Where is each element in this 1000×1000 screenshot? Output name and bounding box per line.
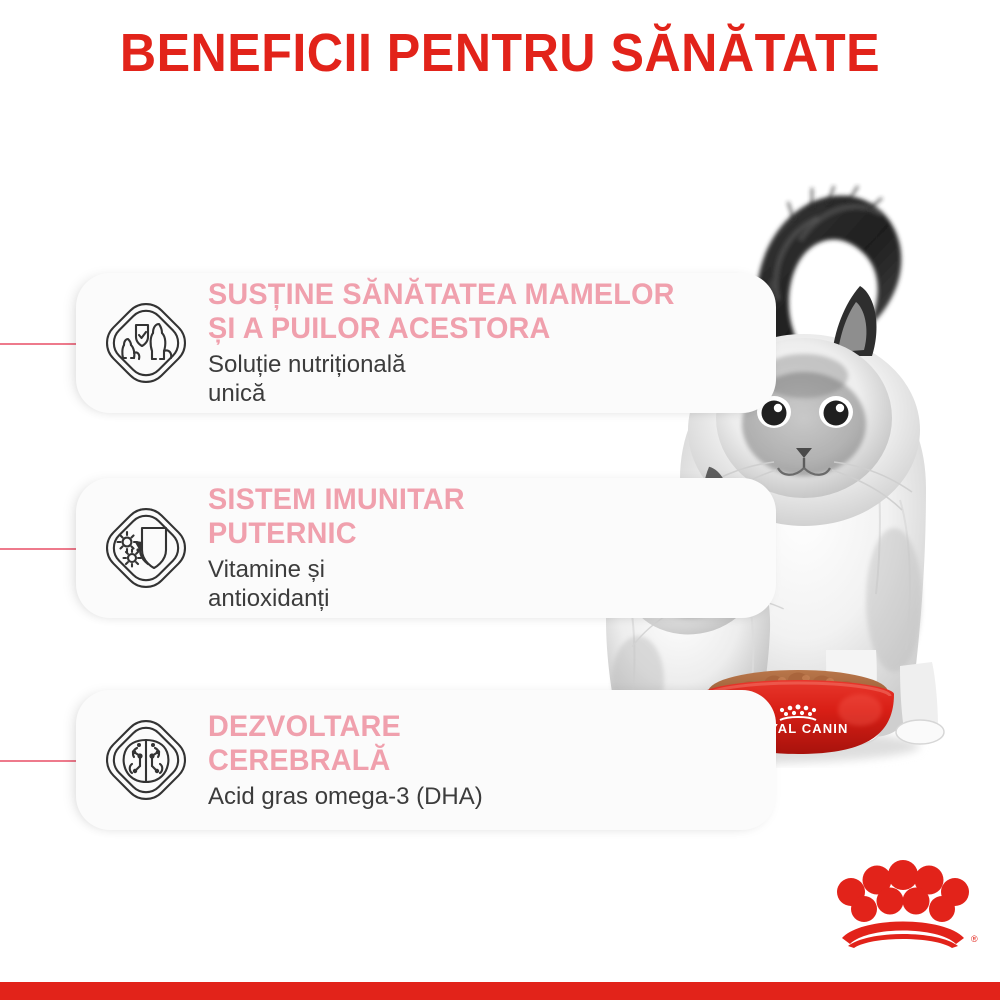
royal-canin-crown-logo: ®: [828, 856, 978, 948]
connector-line-3: [0, 760, 78, 762]
benefit-subtitle-3: Acid gras omega-3 (DHA): [208, 782, 483, 811]
benefit-text-3: DEZVOLTARE CEREBRALĂ Acid gras omega-3 (…: [208, 710, 497, 811]
benefit-card-1[interactable]: SUSȚINE SĂNĂTATEA MAMELOR ȘI A PUILOR AC…: [76, 273, 776, 413]
poster-root: BENEFICII PENTRU SĂNĂTATE: [0, 0, 1000, 1000]
benefit-subtitle-1: Soluție nutrițională unică: [208, 350, 694, 408]
shield-germ-defense-icon: [90, 492, 202, 604]
brain-neurons-icon: [90, 704, 202, 816]
connector-line-1: [0, 343, 78, 345]
benefit-subtitle-2: Vitamine și antioxidanți: [208, 555, 475, 613]
shield-check-cat-kitten-icon: [90, 287, 202, 399]
benefit-title-2: SISTEM IMUNITAR PUTERNIC: [208, 483, 465, 551]
benefit-title-3: DEZVOLTARE CEREBRALĂ: [208, 710, 472, 778]
benefit-text-1: SUSȚINE SĂNĂTATEA MAMELOR ȘI A PUILOR AC…: [208, 278, 708, 408]
benefit-card-3[interactable]: DEZVOLTARE CEREBRALĂ Acid gras omega-3 (…: [76, 690, 776, 830]
bottom-red-bar: [0, 982, 1000, 1000]
page-title: BENEFICII PENTRU SĂNĂTATE: [35, 22, 965, 84]
benefit-text-2: SISTEM IMUNITAR PUTERNIC Vitamine și ant…: [208, 483, 489, 613]
connector-line-2: [0, 548, 78, 550]
benefit-card-2[interactable]: SISTEM IMUNITAR PUTERNIC Vitamine și ant…: [76, 478, 776, 618]
benefit-title-1: SUSȚINE SĂNĂTATEA MAMELOR ȘI A PUILOR AC…: [208, 278, 675, 346]
svg-text:®: ®: [971, 934, 978, 944]
